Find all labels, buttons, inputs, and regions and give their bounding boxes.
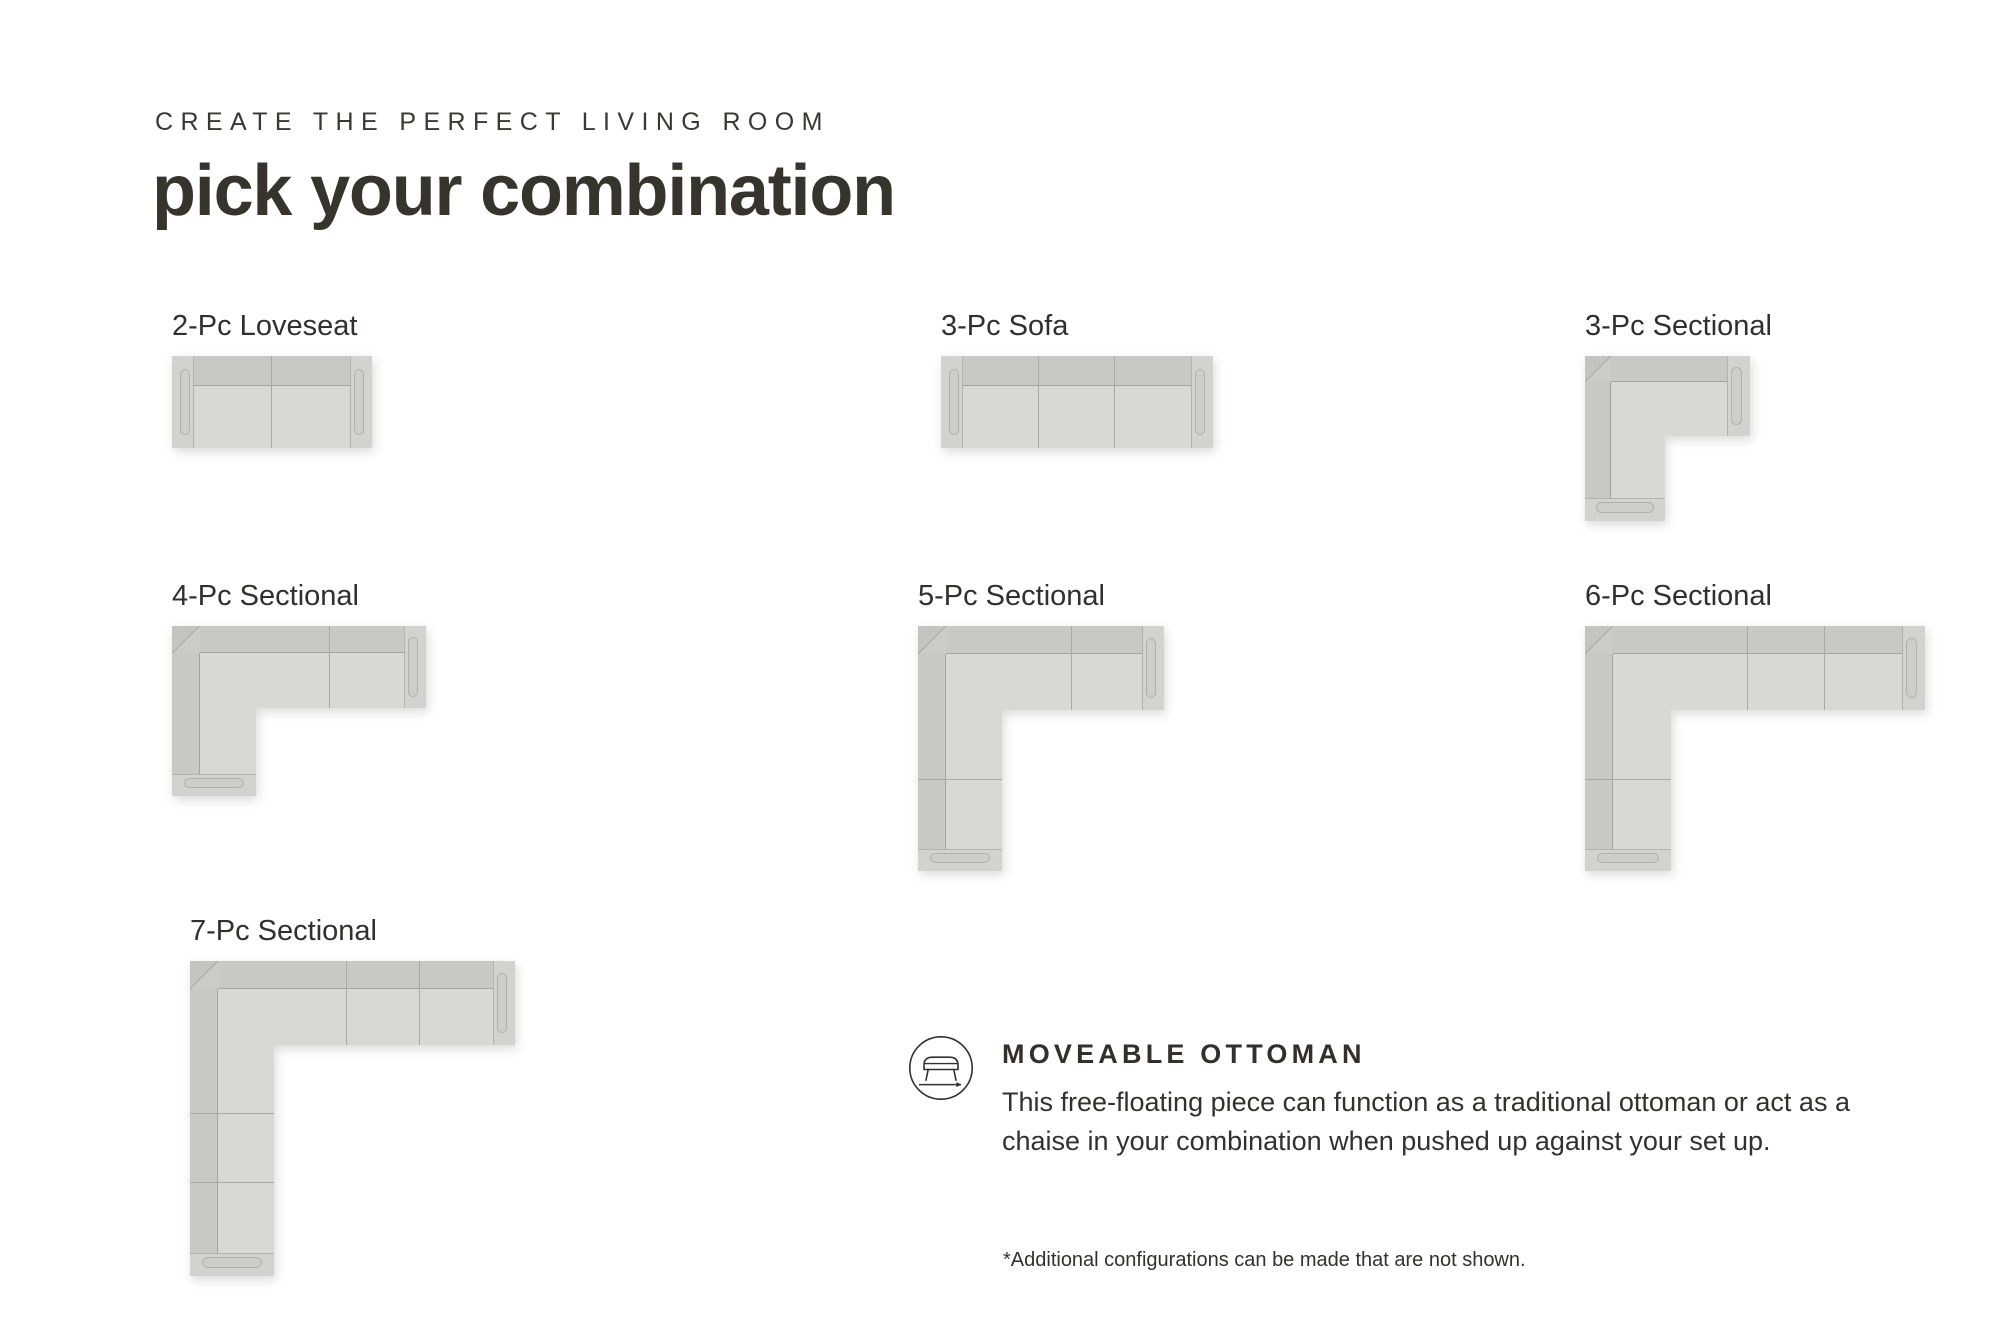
combo-label: 6-Pc Sectional [1585,580,1772,613]
seat-module [1585,710,1671,780]
combo-label: 7-Pc Sectional [190,915,377,948]
seat-module [190,1183,274,1253]
ottoman-title: MOVEABLE OTTOMAN [1002,1039,1366,1070]
seat-module [256,626,330,708]
footnote-text: *Additional configurations can be made t… [1003,1249,1526,1272]
eyebrow-text: CREATE THE PERFECT LIVING ROOM [155,108,830,137]
corner-module [1585,626,1671,710]
corner-module [190,961,274,1045]
corner-module [918,626,1002,710]
seat-module [347,961,420,1045]
seat-module [1585,436,1665,498]
corner-module [172,626,256,708]
arm-bottom [172,774,256,796]
seat-module [918,780,1002,849]
arm-bottom [1585,498,1665,521]
ottoman-icon [908,1035,974,1101]
seat-module [1115,356,1191,448]
arm-right [404,626,426,708]
arm-right [1902,626,1925,710]
arm-right [1191,356,1213,448]
seat-module [963,356,1039,448]
arm-bottom [1585,849,1671,871]
seat-module [918,710,1002,780]
combo-label: 3-Pc Sofa [941,310,1068,343]
seat-module [1002,626,1072,710]
arm-right [350,356,372,448]
seat-module [1585,780,1671,849]
seat-module [420,961,493,1045]
seat-module [330,626,404,708]
corner-module [1585,356,1665,436]
combo-label: 5-Pc Sectional [918,580,1105,613]
seat-module [1039,356,1115,448]
combo-label: 3-Pc Sectional [1585,310,1772,343]
arm-right [1727,356,1750,436]
seat-module [1748,626,1825,710]
seat-module [190,1045,274,1114]
seat-module [1665,356,1727,436]
seat-module [172,708,256,774]
combo-label: 4-Pc Sectional [172,580,359,613]
arm-right [1142,626,1164,710]
arm-left [941,356,963,448]
seat-module [194,356,272,448]
arm-bottom [190,1253,274,1276]
poster-canvas: CREATE THE PERFECT LIVING ROOM pick your… [0,0,2010,1341]
seat-module [1671,626,1748,710]
seat-module [190,1114,274,1183]
seat-module [274,961,347,1045]
combo-label: 2-Pc Loveseat [172,310,357,343]
arm-bottom [918,849,1002,871]
arm-right [493,961,515,1045]
page-title: pick your combination [152,155,895,227]
arm-left [172,356,194,448]
seat-module [272,356,350,448]
seat-module [1825,626,1902,710]
ottoman-description: This free-floating piece can function as… [1002,1083,1872,1161]
seat-module [1072,626,1142,710]
